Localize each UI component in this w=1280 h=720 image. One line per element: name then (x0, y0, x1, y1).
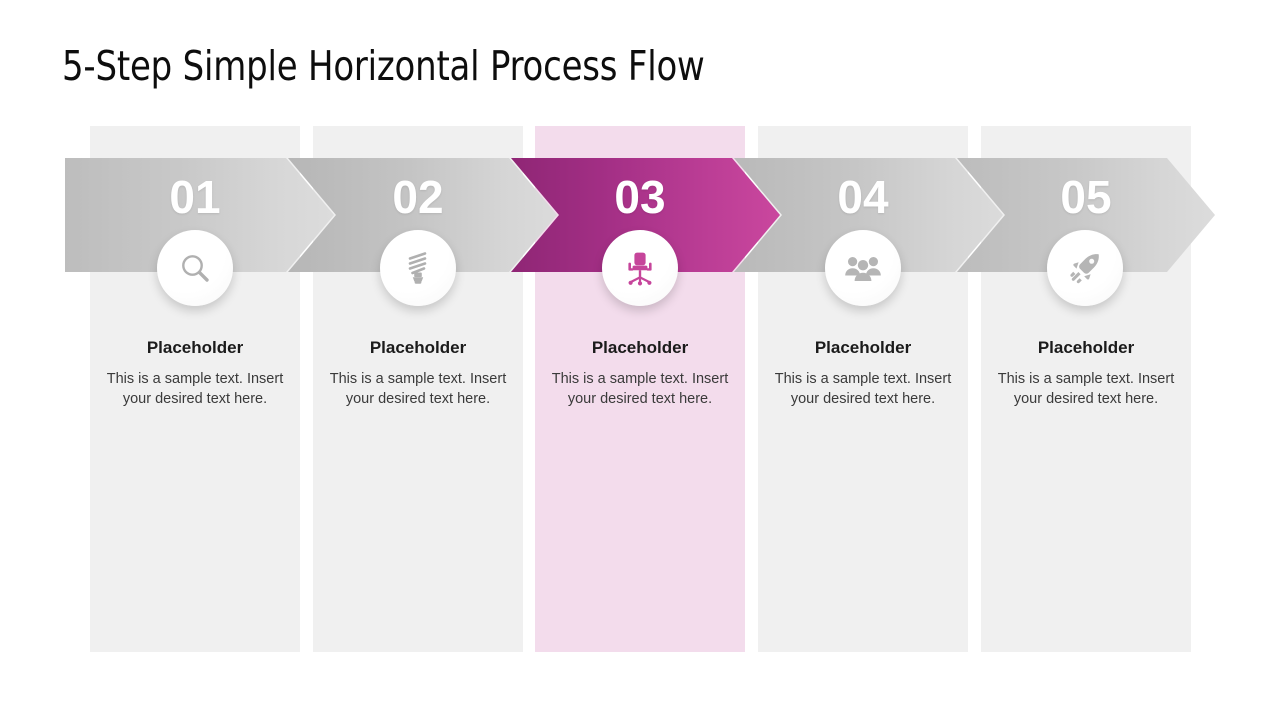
step-heading-4: Placeholder (758, 336, 968, 359)
step-heading-2: Placeholder (313, 336, 523, 359)
rocket-icon (1067, 250, 1103, 286)
step-number-4: 04 (758, 170, 968, 224)
step-number-3: 03 (535, 170, 745, 224)
lightbulb-icon (401, 250, 435, 286)
step-body-4: This is a sample text. Insert your desir… (770, 369, 956, 409)
step-icon-circle-2[interactable] (380, 230, 456, 306)
step-body-3: This is a sample text. Insert your desir… (547, 369, 733, 409)
step-body-2: This is a sample text. Insert your desir… (325, 369, 511, 409)
step-body-1: This is a sample text. Insert your desir… (102, 369, 288, 409)
step-icon-circle-1[interactable] (157, 230, 233, 306)
step-heading-1: Placeholder (90, 336, 300, 359)
process-flow-slide: 5-Step Simple Horizontal Process Flow 01… (0, 0, 1280, 720)
step-icon-circle-3[interactable] (602, 230, 678, 306)
team-people-icon (844, 254, 882, 282)
step-body-5: This is a sample text. Insert your desir… (993, 369, 1179, 409)
office-chair-icon (623, 250, 657, 286)
step-number-1: 01 (90, 170, 300, 224)
step-heading-5: Placeholder (981, 336, 1191, 359)
step-icon-circle-4[interactable] (825, 230, 901, 306)
page-title: 5-Step Simple Horizontal Process Flow (62, 42, 705, 90)
step-number-5: 05 (981, 170, 1191, 224)
search-icon (178, 251, 212, 285)
step-heading-3: Placeholder (535, 336, 745, 359)
step-number-2: 02 (313, 170, 523, 224)
step-icon-circle-5[interactable] (1047, 230, 1123, 306)
